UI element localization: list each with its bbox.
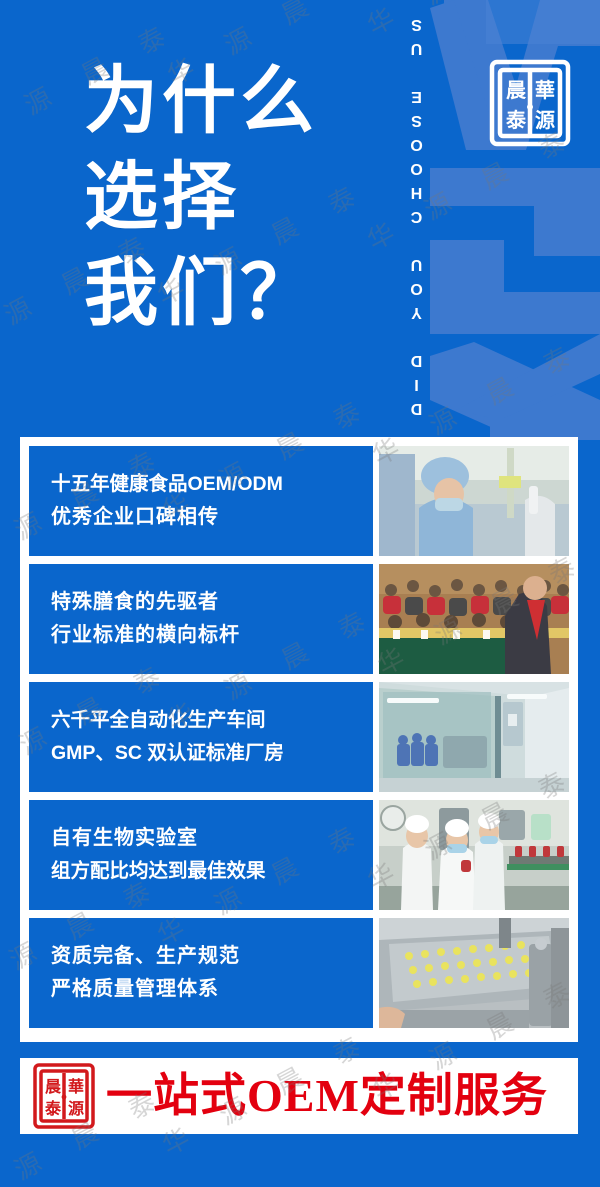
- vertical-english-caption: DID YOU CHOOSE US: [404, 18, 430, 408]
- feature-card-text: 六千平全自动化生产车间 GMP、SC 双认证标准厂房: [29, 682, 373, 792]
- feature-card[interactable]: 六千平全自动化生产车间 GMP、SC 双认证标准厂房: [29, 682, 569, 792]
- feature-card-line-1: 资质完备、生产规范: [51, 940, 353, 973]
- feature-card-line-1: 特殊膳食的先驱者: [51, 586, 353, 619]
- headline-line-3: 我们？: [84, 246, 318, 342]
- feature-card-line-2: 优秀企业口碑相传: [51, 501, 353, 534]
- conference-audience-photo: [379, 564, 569, 674]
- feature-card-text: 资质完备、生产规范 严格质量管理体系: [29, 918, 373, 1028]
- feature-card[interactable]: 特殊膳食的先驱者 行业标准的横向标杆: [29, 564, 569, 674]
- bottom-banner: 晨 泰 華 源 一站式OEM定制服务: [20, 1058, 578, 1134]
- feature-card[interactable]: 自有生物实验室 组方配比均达到最佳效果: [29, 800, 569, 910]
- feature-card[interactable]: 资质完备、生产规范 严格质量管理体系: [29, 918, 569, 1028]
- feature-card-line-1: 六千平全自动化生产车间: [51, 704, 353, 737]
- headline: 为什么 选择 我们？: [84, 54, 318, 342]
- feature-card-line-1: 十五年健康食品OEM/ODM: [51, 468, 353, 501]
- feature-card-text: 特殊膳食的先驱者 行业标准的横向标杆: [29, 564, 373, 674]
- feature-card-line-2: 行业标准的横向标杆: [51, 619, 353, 652]
- features-panel: 十五年健康食品OEM/ODM 优秀企业口碑相传: [20, 437, 578, 1042]
- svg-text:泰: 泰: [44, 1099, 62, 1118]
- feature-card-line-2: 组方配比均达到最佳效果: [51, 855, 353, 888]
- feature-card-line-2: 严格质量管理体系: [51, 973, 353, 1006]
- production-line-workers-photo: [379, 800, 569, 910]
- feature-card-line-1: 自有生物实验室: [51, 822, 353, 855]
- svg-text:華: 華: [535, 79, 555, 102]
- svg-text:源: 源: [535, 109, 555, 132]
- brand-seal-red-icon: 晨 泰 華 源: [32, 1062, 96, 1130]
- svg-text:晨: 晨: [506, 79, 527, 102]
- feature-card-line-2: GMP、SC 双认证标准厂房: [51, 737, 353, 770]
- blister-packaging-machine-photo: [379, 918, 569, 1028]
- headline-line-2: 选择: [84, 150, 318, 246]
- brand-seal-white-icon: 晨 泰 華 源: [487, 57, 573, 149]
- vertical-english-text: DID YOU CHOOSE US: [408, 9, 426, 417]
- svg-text:源: 源: [68, 1099, 84, 1118]
- banner-text: 一站式OEM定制服务: [106, 1073, 548, 1119]
- headline-line-1: 为什么: [84, 54, 318, 150]
- svg-text:華: 華: [68, 1077, 84, 1096]
- feature-card-text: 十五年健康食品OEM/ODM 优秀企业口碑相传: [29, 446, 373, 556]
- feature-card-text: 自有生物实验室 组方配比均达到最佳效果: [29, 800, 373, 910]
- lab-technician-pipetting-photo: [379, 446, 569, 556]
- feature-card[interactable]: 十五年健康食品OEM/ODM 优秀企业口碑相传: [29, 446, 569, 556]
- cleanroom-corridor-photo: [379, 682, 569, 792]
- svg-text:晨: 晨: [45, 1078, 62, 1096]
- watermark-text: 华 源 晨 泰: [360, 0, 585, 43]
- svg-text:泰: 泰: [505, 108, 527, 132]
- poster-canvas: 为什么 选择 我们？ DID YOU CHOOSE US 晨 泰 華 源: [0, 0, 600, 1187]
- feature-card-list: 十五年健康食品OEM/ODM 优秀企业口碑相传: [29, 446, 569, 1028]
